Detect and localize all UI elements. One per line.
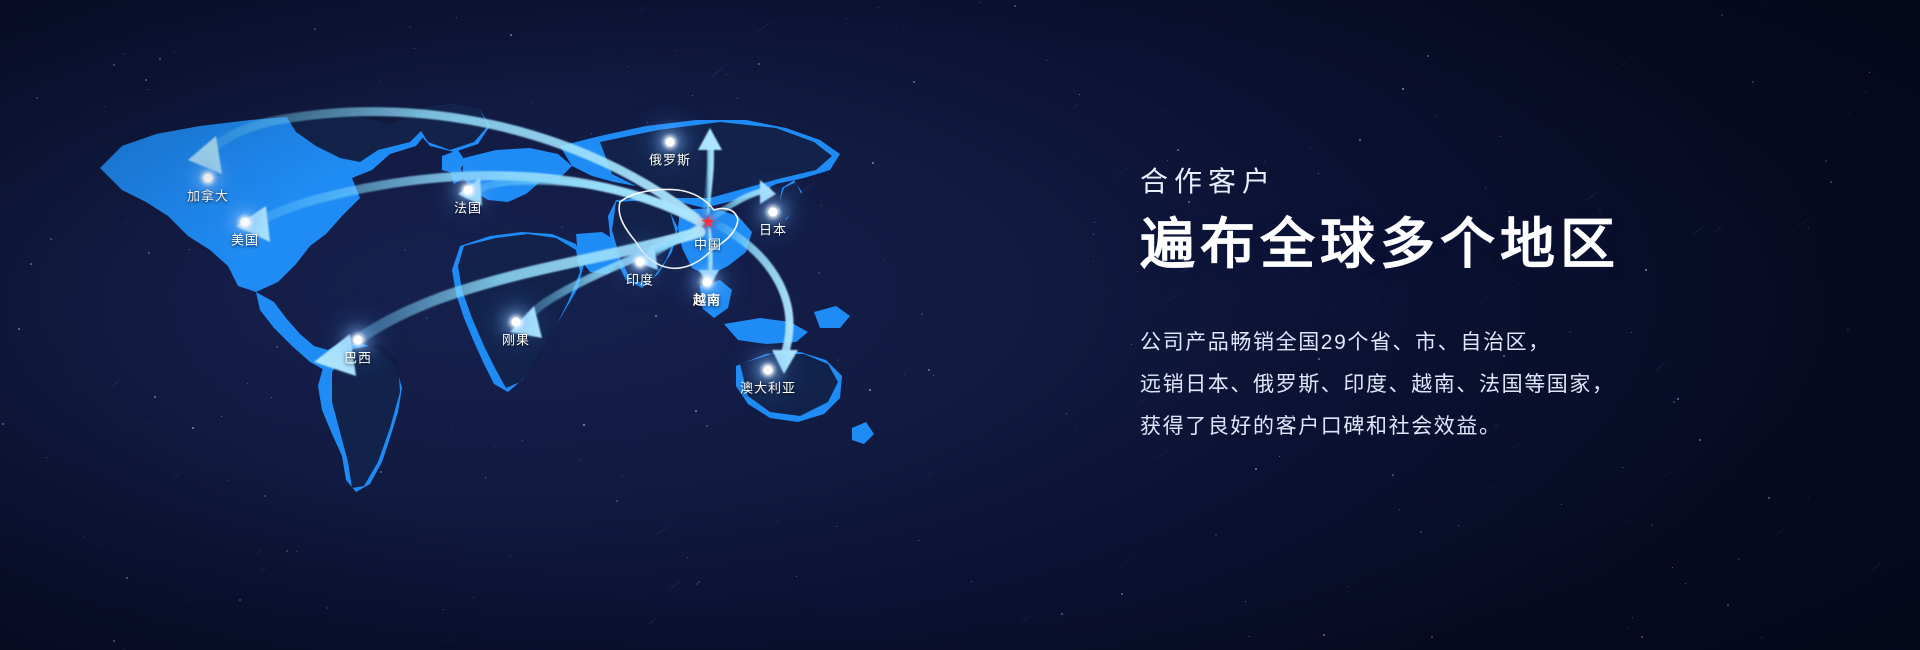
map-label-china: 中国 bbox=[694, 234, 722, 253]
map-label-japan: 日本 bbox=[759, 220, 787, 239]
map-marker-usa[interactable]: 美国 bbox=[241, 218, 250, 227]
city-dot-icon bbox=[241, 218, 250, 227]
city-dot-icon bbox=[703, 278, 712, 287]
city-dot-icon bbox=[764, 366, 773, 375]
map-marker-australia[interactable]: 澳大利亚 bbox=[764, 366, 773, 375]
map-label-canada: 加拿大 bbox=[187, 186, 229, 205]
map-label-brazil: 巴西 bbox=[344, 348, 372, 367]
city-dot-icon bbox=[204, 174, 213, 183]
map-marker-brazil[interactable]: 巴西 bbox=[354, 336, 363, 345]
eyebrow-text: 合作客户 bbox=[1140, 160, 1840, 200]
map-label-russia: 俄罗斯 bbox=[649, 150, 691, 169]
red-star-icon: ★ bbox=[700, 214, 715, 231]
map-label-australia: 澳大利亚 bbox=[740, 378, 796, 397]
map-label-france: 法国 bbox=[454, 198, 482, 217]
map-marker-india[interactable]: 印度 bbox=[636, 258, 645, 267]
city-dot-icon bbox=[666, 138, 675, 147]
city-dot-icon bbox=[464, 186, 473, 195]
description-paragraph: 公司产品畅销全国29个省、市、自治区， 远销日本、俄罗斯、印度、越南、法国等国家… bbox=[1140, 322, 1840, 448]
description-line-1: 公司产品畅销全国29个省、市、自治区， bbox=[1140, 322, 1840, 364]
map-label-india: 印度 bbox=[626, 270, 654, 289]
map-marker-france[interactable]: 法国 bbox=[464, 186, 473, 195]
map-marker-russia[interactable]: 俄罗斯 bbox=[666, 138, 675, 147]
map-label-usa: 美国 bbox=[231, 230, 259, 249]
city-dot-icon bbox=[512, 318, 521, 327]
map-marker-congo[interactable]: 刚果 bbox=[512, 318, 521, 327]
city-dot-icon bbox=[354, 336, 363, 345]
map-marker-canada[interactable]: 加拿大 bbox=[204, 174, 213, 183]
map-label-congo: 刚果 bbox=[502, 330, 530, 349]
map-label-vietnam: 越南 bbox=[693, 290, 721, 309]
city-dot-icon bbox=[636, 258, 645, 267]
description-line-3: 获得了良好的客户口碑和社会效益。 bbox=[1140, 406, 1840, 448]
city-dot-icon bbox=[769, 208, 778, 217]
page-title: 遍布全球多个地区 bbox=[1140, 214, 1840, 276]
world-map-svg bbox=[60, 50, 940, 550]
world-map: 加拿大美国巴西法国刚果俄罗斯印度★中国日本越南澳大利亚 bbox=[60, 50, 940, 550]
copy-block: 合作客户 遍布全球多个地区 公司产品畅销全国29个省、市、自治区， 远销日本、俄… bbox=[1140, 160, 1840, 448]
map-marker-japan[interactable]: 日本 bbox=[769, 208, 778, 217]
global-clients-banner: 加拿大美国巴西法国刚果俄罗斯印度★中国日本越南澳大利亚 合作客户 遍布全球多个地… bbox=[0, 0, 1920, 650]
description-line-2: 远销日本、俄罗斯、印度、越南、法国等国家， bbox=[1140, 364, 1840, 406]
map-marker-vietnam[interactable]: 越南 bbox=[703, 278, 712, 287]
